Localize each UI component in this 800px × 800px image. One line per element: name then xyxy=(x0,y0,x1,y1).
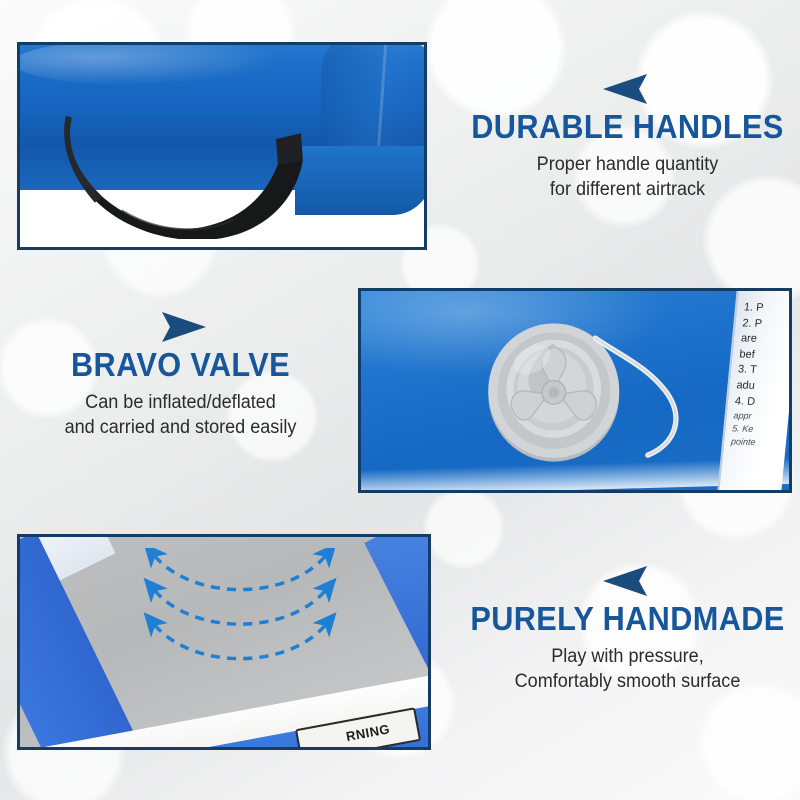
arrow-right-icon xyxy=(154,312,208,342)
photo-panel-purely-handmade: RNING xyxy=(17,534,431,750)
airtrack-handle-photo xyxy=(20,45,424,247)
feature-text-durable-handles: DURABLE HANDLES Proper handle quantity f… xyxy=(455,74,800,203)
feature-subline-2: Comfortably smooth surface xyxy=(464,669,792,694)
feature-text-bravo-valve: BRAVO VALVE Can be inflated/deflated and… xyxy=(8,312,353,441)
feature-subline-1: Play with pressure, xyxy=(464,644,792,669)
airtrack-surface-photo: RNING xyxy=(20,537,428,747)
feature-subline-2: for different airtrack xyxy=(464,177,792,202)
arrow-left-icon xyxy=(601,566,655,596)
label-line: 3. T xyxy=(737,363,792,380)
feature-text-purely-handmade: PURELY HANDMADE Play with pressure, Comf… xyxy=(455,566,800,695)
feature-subline-2: and carried and stored easily xyxy=(17,415,345,440)
feature-subline: Proper handle quantity for different air… xyxy=(464,152,792,203)
label-line: pointe xyxy=(730,435,786,449)
feature-heading: BRAVO VALVE xyxy=(20,348,341,383)
tube-rounded-end xyxy=(321,42,427,159)
tube-highlight xyxy=(17,42,284,86)
valve-tether-cord-icon xyxy=(554,331,747,474)
label-line: adu xyxy=(735,378,792,395)
label-line: are xyxy=(740,332,792,349)
label-line: bef xyxy=(738,347,792,364)
arrow-left-icon xyxy=(601,74,655,104)
label-line: 5. Ke xyxy=(732,422,788,436)
feature-heading: PURELY HANDMADE xyxy=(467,602,788,637)
label-line: 2. P xyxy=(741,316,792,333)
bravo-valve-photo: 1. P 2. P are bef 3. T adu 4. D appr 5. … xyxy=(361,291,789,490)
label-line: 1. P xyxy=(743,300,792,317)
feature-subline-1: Proper handle quantity xyxy=(464,152,792,177)
label-line: 4. D xyxy=(734,394,791,411)
photo-panel-durable-handles xyxy=(17,42,427,250)
photo-panel-bravo-valve: 1. P 2. P are bef 3. T adu 4. D appr 5. … xyxy=(358,288,792,493)
warning-label-text: RNING xyxy=(345,721,391,744)
feature-subline-1: Can be inflated/deflated xyxy=(17,390,345,415)
feature-subline: Can be inflated/deflated and carried and… xyxy=(17,390,345,441)
feature-subline: Play with pressure, Comfortably smooth s… xyxy=(464,644,792,695)
black-handle-strap-icon xyxy=(64,114,314,239)
feature-heading: DURABLE HANDLES xyxy=(467,110,788,145)
bounce-arrows-icon xyxy=(134,548,346,670)
